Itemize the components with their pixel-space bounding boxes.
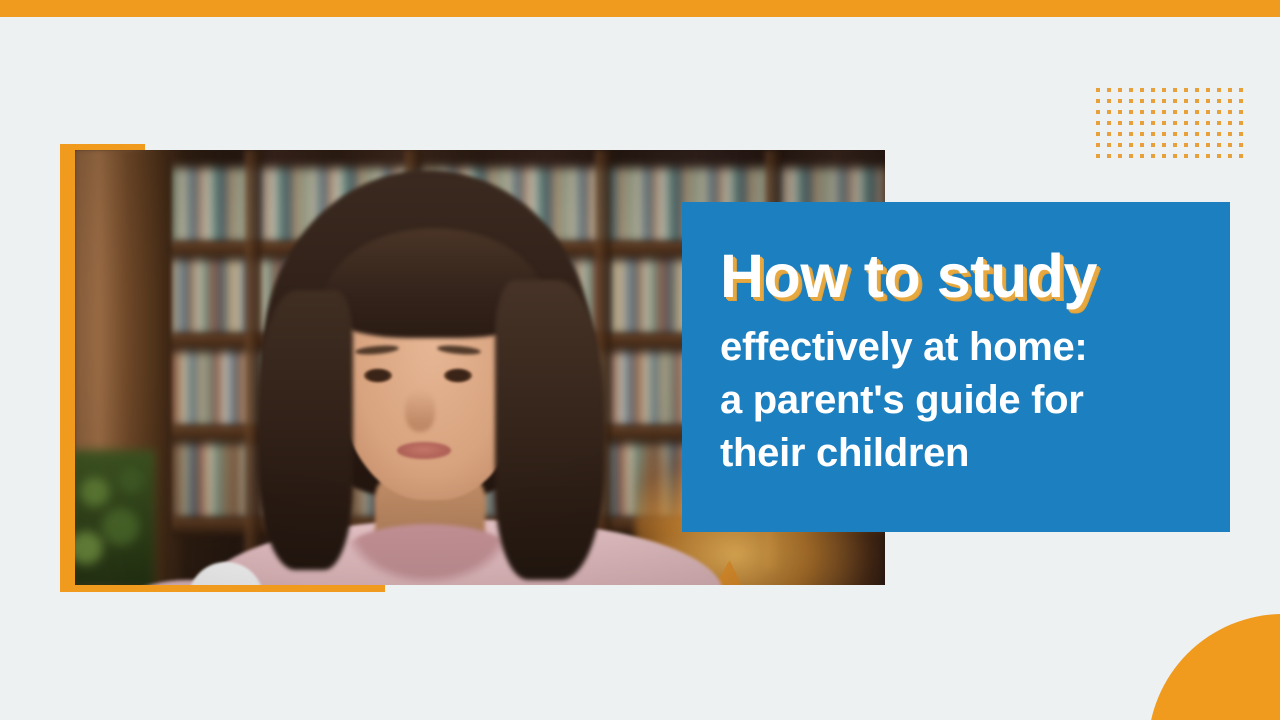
dot xyxy=(1107,121,1111,125)
dot xyxy=(1096,121,1100,125)
dot xyxy=(1228,143,1232,147)
dot xyxy=(1118,110,1122,114)
dot xyxy=(1151,132,1155,136)
dot xyxy=(1151,121,1155,125)
dot xyxy=(1151,143,1155,147)
dot xyxy=(1195,143,1199,147)
dot xyxy=(1239,121,1243,125)
dot xyxy=(1239,143,1243,147)
headline-card: How to study effectively at home: a pare… xyxy=(682,202,1230,532)
dot xyxy=(1129,154,1133,158)
dot xyxy=(1096,143,1100,147)
dot xyxy=(1096,154,1100,158)
dot xyxy=(1140,110,1144,114)
dot-row xyxy=(1096,132,1246,143)
dot-row xyxy=(1096,88,1246,99)
dot xyxy=(1173,154,1177,158)
headline-subtitle-line: effectively at home: xyxy=(720,321,1190,374)
dot xyxy=(1118,88,1122,92)
dot xyxy=(1173,99,1177,103)
dot xyxy=(1107,132,1111,136)
dot xyxy=(1228,154,1232,158)
dot xyxy=(1162,99,1166,103)
dot xyxy=(1162,121,1166,125)
dot xyxy=(1206,132,1210,136)
dot xyxy=(1239,88,1243,92)
dot xyxy=(1118,132,1122,136)
dot xyxy=(1217,99,1221,103)
dot xyxy=(1151,99,1155,103)
dot xyxy=(1239,110,1243,114)
dot xyxy=(1228,110,1232,114)
dot xyxy=(1129,121,1133,125)
dot xyxy=(1217,121,1221,125)
dot xyxy=(1096,88,1100,92)
dot xyxy=(1195,88,1199,92)
headline-subtitle-line: their children xyxy=(720,427,1190,480)
dot xyxy=(1140,99,1144,103)
dot xyxy=(1118,121,1122,125)
dot xyxy=(1217,154,1221,158)
dot xyxy=(1118,154,1122,158)
dot xyxy=(1228,121,1232,125)
dot xyxy=(1162,143,1166,147)
dot xyxy=(1239,132,1243,136)
dot xyxy=(1206,121,1210,125)
dot xyxy=(1173,143,1177,147)
dot-row xyxy=(1096,110,1246,121)
dot xyxy=(1184,132,1188,136)
photo-frame-left xyxy=(60,144,75,592)
dot xyxy=(1228,99,1232,103)
dot xyxy=(1228,132,1232,136)
dot-grid-decoration xyxy=(1096,88,1246,152)
dot-row xyxy=(1096,121,1246,132)
dot xyxy=(1107,110,1111,114)
dot xyxy=(1140,88,1144,92)
dot xyxy=(1151,110,1155,114)
dot xyxy=(1140,143,1144,147)
dot xyxy=(1206,154,1210,158)
dot xyxy=(1107,88,1111,92)
dot xyxy=(1129,143,1133,147)
dot xyxy=(1140,154,1144,158)
dot xyxy=(1217,88,1221,92)
dot-row xyxy=(1096,154,1246,165)
dot xyxy=(1173,110,1177,114)
dot-row xyxy=(1096,99,1246,110)
corner-circle-decoration xyxy=(1148,614,1280,720)
dot xyxy=(1195,132,1199,136)
dot-row xyxy=(1096,143,1246,154)
dot xyxy=(1162,154,1166,158)
dot xyxy=(1206,99,1210,103)
dot xyxy=(1184,154,1188,158)
dot xyxy=(1206,143,1210,147)
dot xyxy=(1129,132,1133,136)
dot xyxy=(1151,154,1155,158)
headline-subtitle: effectively at home: a parent's guide fo… xyxy=(720,321,1190,481)
dot xyxy=(1206,88,1210,92)
dot xyxy=(1107,99,1111,103)
dot xyxy=(1129,88,1133,92)
slide-canvas: How to study effectively at home: a pare… xyxy=(0,0,1280,720)
dot xyxy=(1107,154,1111,158)
dot xyxy=(1118,143,1122,147)
dot xyxy=(1096,110,1100,114)
dot xyxy=(1184,143,1188,147)
dot xyxy=(1195,110,1199,114)
dot xyxy=(1129,99,1133,103)
dot xyxy=(1184,121,1188,125)
dot xyxy=(1173,88,1177,92)
dot xyxy=(1118,99,1122,103)
dot xyxy=(1096,132,1100,136)
dot xyxy=(1173,132,1177,136)
dot xyxy=(1184,99,1188,103)
dot xyxy=(1195,99,1199,103)
top-accent-bar xyxy=(0,0,1280,17)
dot xyxy=(1107,143,1111,147)
headline-title: How to study xyxy=(720,246,1190,307)
dot xyxy=(1217,143,1221,147)
dot xyxy=(1239,99,1243,103)
dot xyxy=(1239,154,1243,158)
dot xyxy=(1195,154,1199,158)
dot xyxy=(1173,121,1177,125)
dot xyxy=(1217,110,1221,114)
headline-subtitle-line: a parent's guide for xyxy=(720,374,1190,427)
dot xyxy=(1184,110,1188,114)
dot xyxy=(1162,88,1166,92)
dot xyxy=(1184,88,1188,92)
dot xyxy=(1217,132,1221,136)
dot xyxy=(1096,99,1100,103)
dot xyxy=(1151,88,1155,92)
dot xyxy=(1140,121,1144,125)
dot xyxy=(1162,110,1166,114)
dot xyxy=(1140,132,1144,136)
dot xyxy=(1195,121,1199,125)
dot xyxy=(1162,132,1166,136)
dot xyxy=(1228,88,1232,92)
dot xyxy=(1129,110,1133,114)
dot xyxy=(1206,110,1210,114)
